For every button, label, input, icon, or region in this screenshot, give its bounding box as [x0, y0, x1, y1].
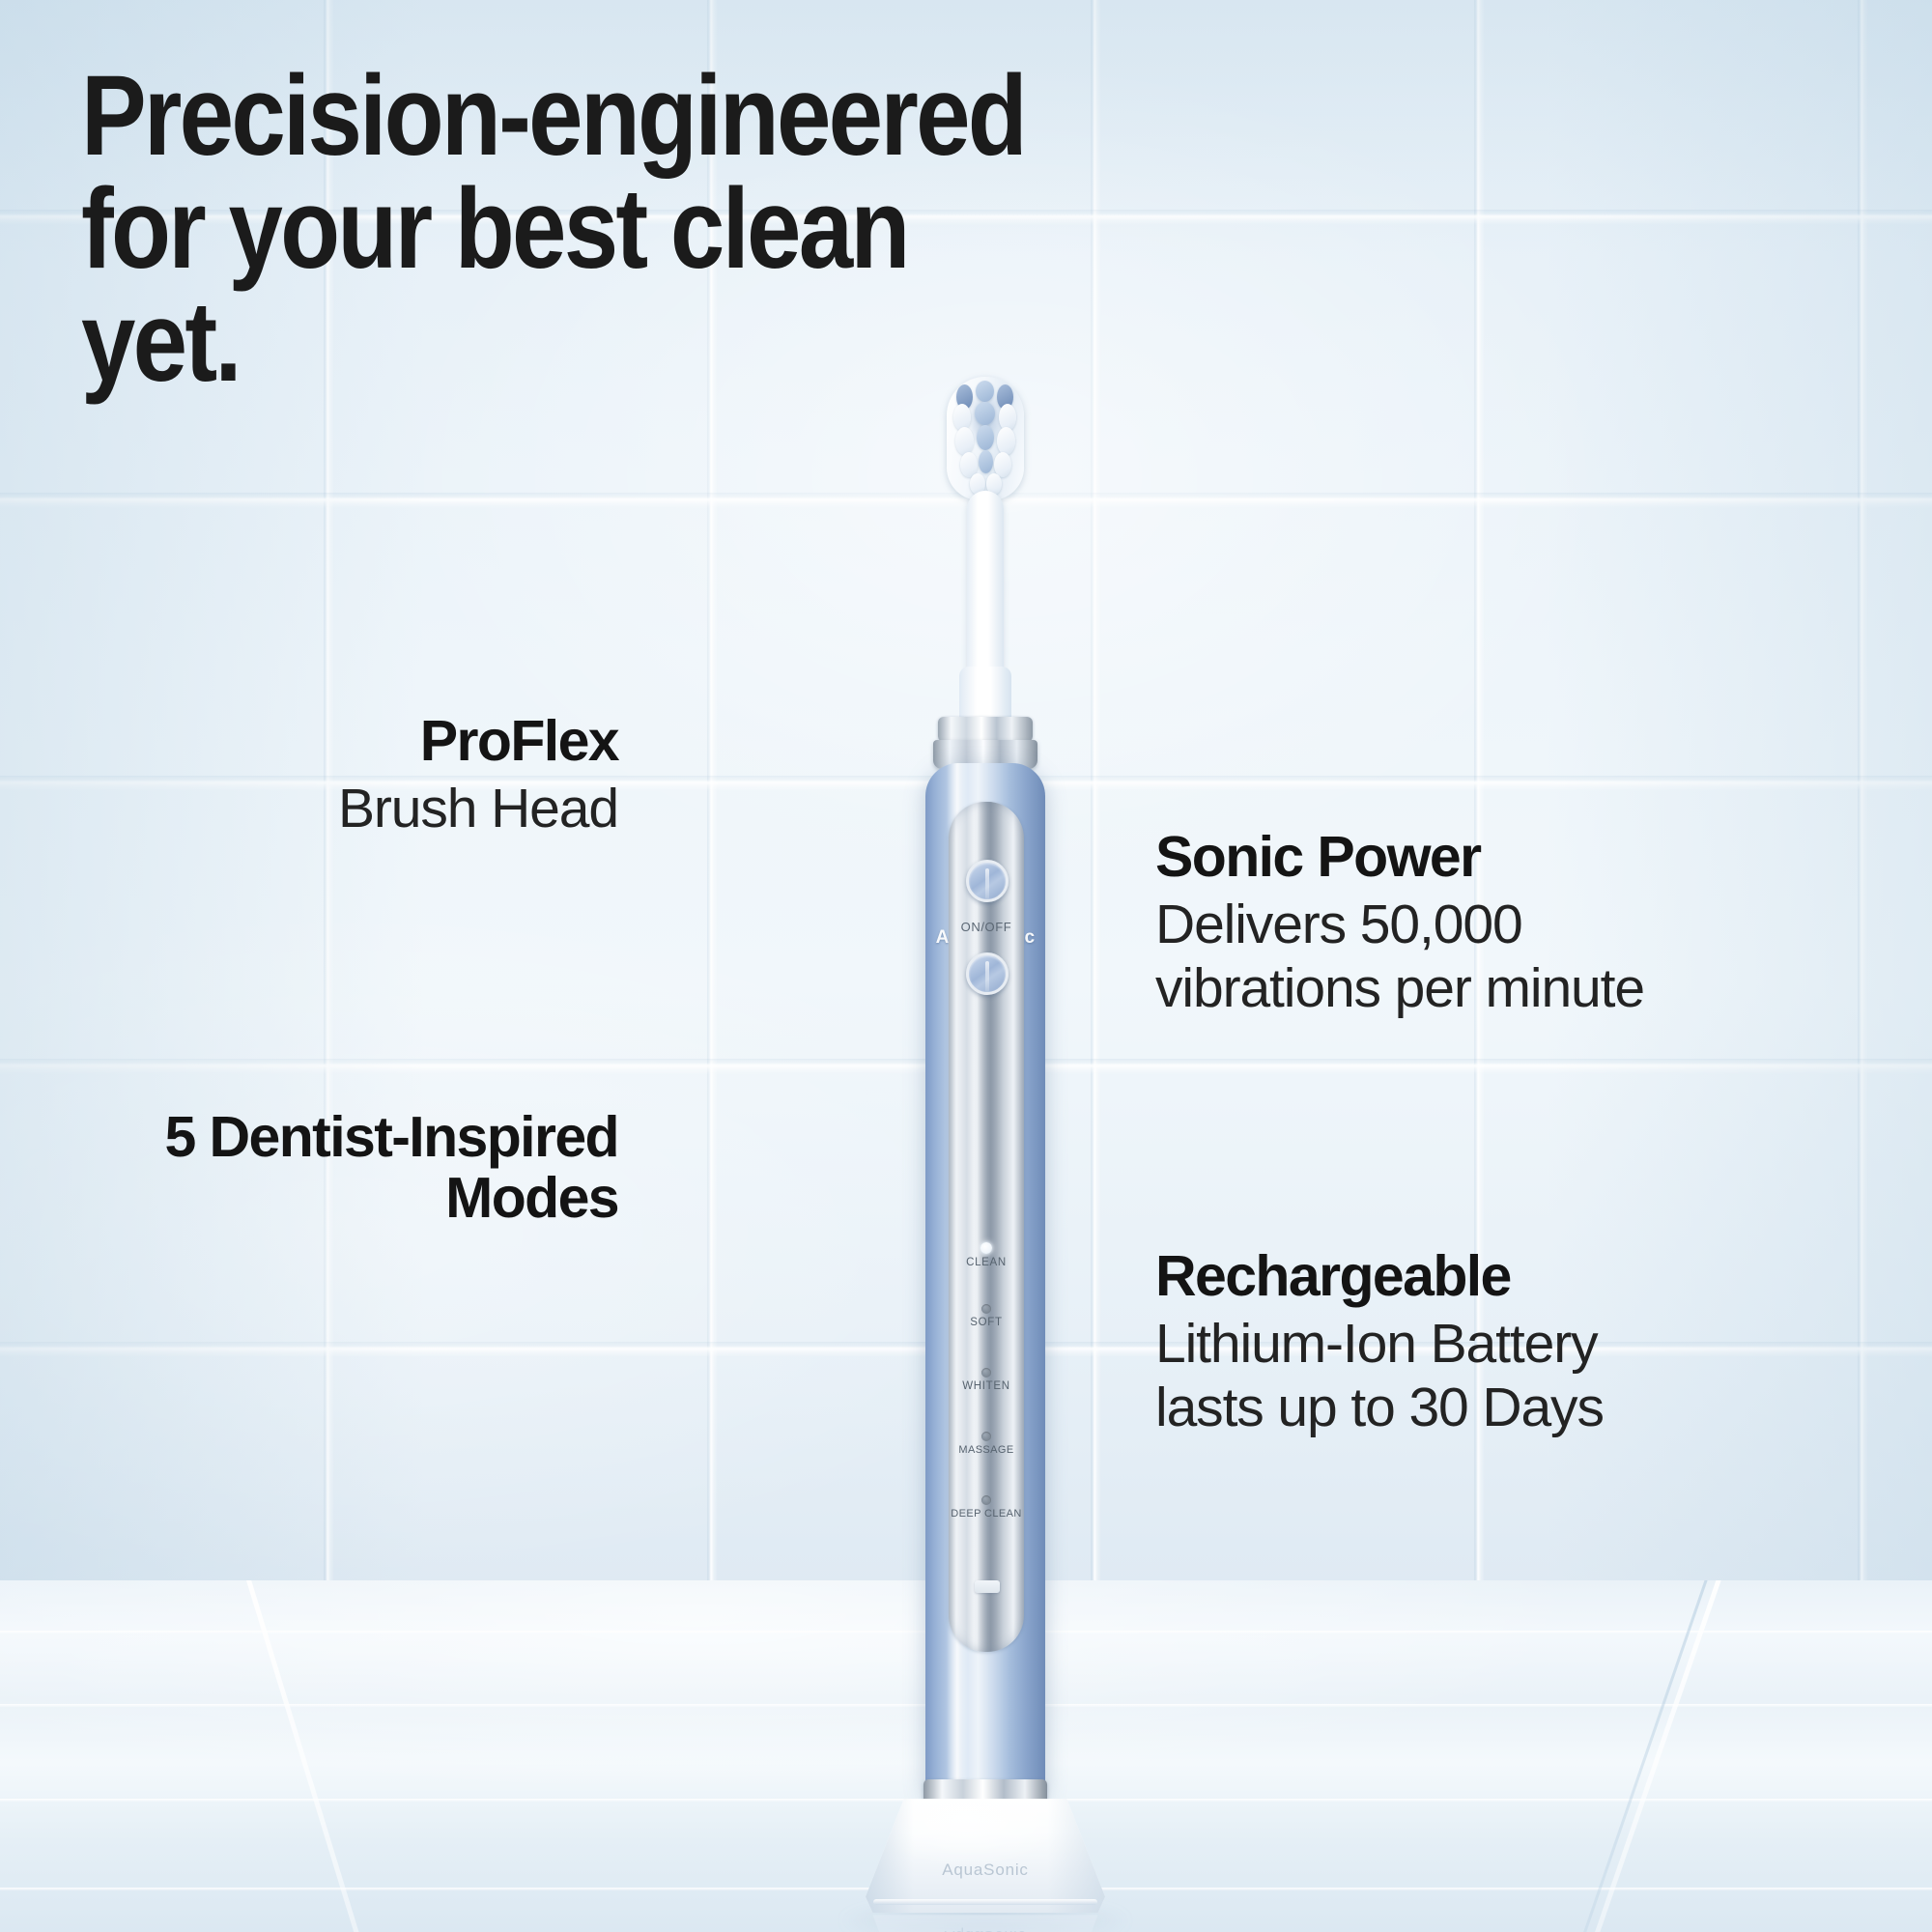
- feature-callout-modes: 5 Dentist-Inspired Modes: [97, 1107, 618, 1228]
- product-toothbrush: AquaSonic ON/OFF CLEAN SOFT WHITEN MAS: [831, 377, 1140, 1845]
- feature-body: Brush Head: [174, 777, 618, 840]
- metal-collar-upper: [938, 717, 1033, 742]
- mode-label: WHITEN: [949, 1380, 1024, 1392]
- battery-indicator-icon: [975, 1580, 1000, 1593]
- feature-callout-proflex: ProFlex Brush Head: [174, 711, 618, 840]
- feature-body: Delivers 50,000 vibrations per minute: [1155, 893, 1870, 1020]
- mode-label: SOFT: [949, 1317, 1024, 1328]
- power-button-notch: [985, 868, 989, 899]
- mode-indicator-clean[interactable]: CLEAN: [949, 1242, 1024, 1268]
- charging-base: [866, 1799, 1105, 1913]
- mode-led-icon: [981, 1368, 991, 1378]
- power-button-label: ON/OFF: [949, 920, 1024, 934]
- feature-title: 5 Dentist-Inspired Modes: [97, 1107, 618, 1228]
- mode-label: DEEP CLEAN: [949, 1508, 1024, 1520]
- power-button[interactable]: [966, 860, 1009, 902]
- mode-led-icon: [981, 1432, 991, 1441]
- base-shading: [866, 1799, 1105, 1913]
- mode-button[interactable]: [966, 952, 1009, 995]
- mode-label: CLEAN: [949, 1257, 1024, 1268]
- mode-led-icon: [981, 1495, 991, 1505]
- feature-title: ProFlex: [174, 711, 618, 772]
- feature-title: Rechargeable: [1155, 1246, 1889, 1307]
- mode-indicator-deep-clean[interactable]: DEEP CLEAN: [949, 1495, 1024, 1520]
- feature-callout-rechargeable: Rechargeable Lithium-Ion Battery lasts u…: [1155, 1246, 1889, 1439]
- mode-indicator-soft[interactable]: SOFT: [949, 1304, 1024, 1328]
- mode-led-icon: [981, 1304, 991, 1314]
- base-bottom-edge: [873, 1899, 1097, 1905]
- page-title: Precision-engineered for your best clean…: [81, 60, 1078, 398]
- mode-button-notch: [985, 961, 989, 992]
- feature-callout-sonic-power: Sonic Power Delivers 50,000 vibrations p…: [1155, 827, 1870, 1020]
- mode-led-icon: [980, 1242, 992, 1254]
- brand-logo-base-reflection: AquaSonic: [866, 1926, 1105, 1932]
- feature-body: Lithium-Ion Battery lasts up to 30 Days: [1155, 1312, 1889, 1439]
- brand-logo-base: AquaSonic: [866, 1861, 1105, 1880]
- infographic-canvas: Precision-engineered for your best clean…: [0, 0, 1932, 1932]
- feature-title: Sonic Power: [1155, 827, 1870, 888]
- brush-head-icon: [947, 377, 1024, 500]
- brush-neck: [967, 491, 1004, 684]
- mode-indicator-massage[interactable]: MASSAGE: [949, 1432, 1024, 1456]
- mode-indicator-whiten[interactable]: WHITEN: [949, 1368, 1024, 1392]
- mode-label: MASSAGE: [949, 1444, 1024, 1456]
